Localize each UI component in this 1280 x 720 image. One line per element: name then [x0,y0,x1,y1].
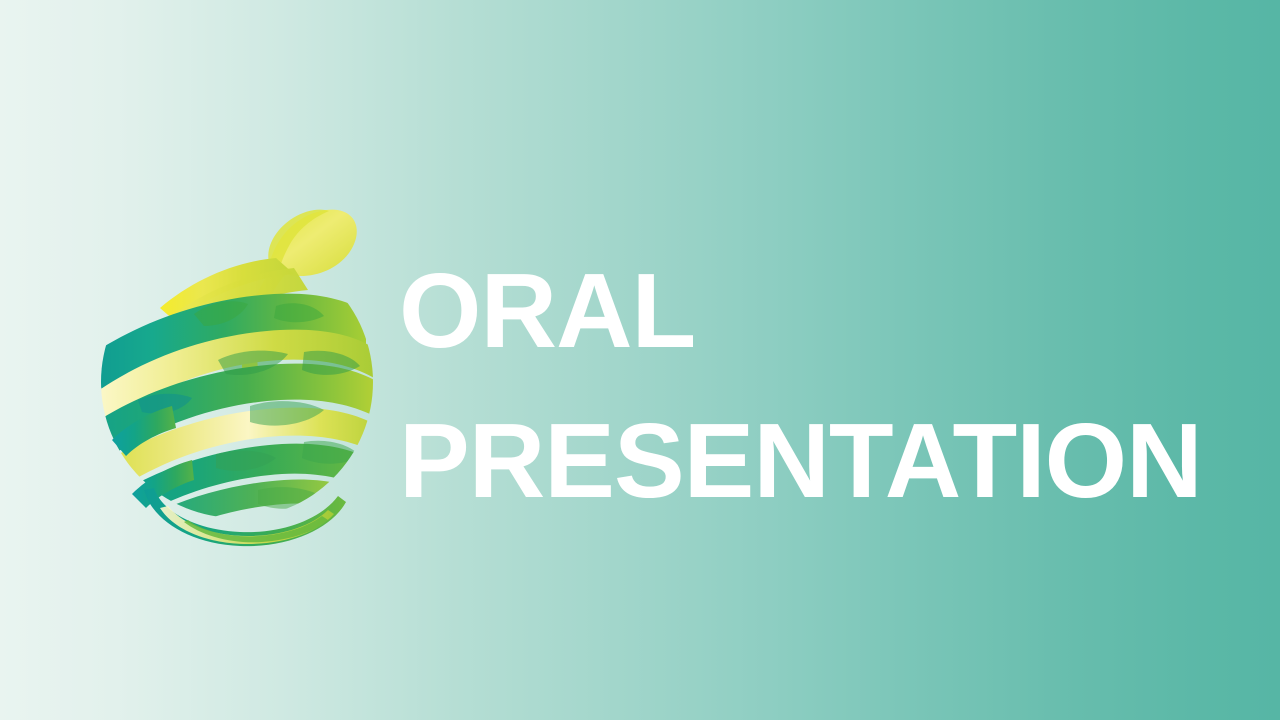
title-line-2: PRESENTATION [399,386,1199,536]
slide-title: ORAL PRESENTATION [399,236,1199,536]
title-line-1: ORAL [399,236,1199,386]
ribbon-globe-logo [98,202,376,518]
presentation-slide: ORAL PRESENTATION [0,0,1280,720]
